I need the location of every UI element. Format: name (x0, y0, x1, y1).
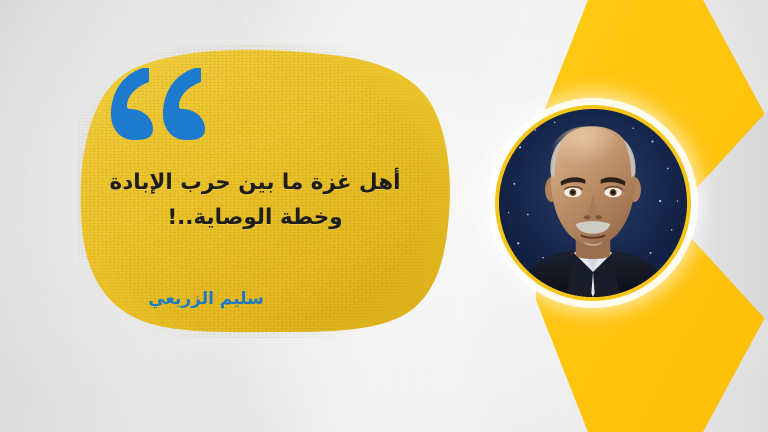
author-name: سليم الزريعي (96, 288, 316, 310)
quote-line-2: وخطة الوصاية..! (96, 201, 414, 236)
author-portrait-avatar (495, 105, 691, 301)
quote-text: أهل غزة ما بين حرب الإبادة وخطة الوصاية.… (96, 166, 414, 236)
quote-line-1: أهل غزة ما بين حرب الإبادة (96, 166, 414, 201)
portrait-image (499, 109, 687, 297)
quote-card: أهل غزة ما بين حرب الإبادة وخطة الوصاية.… (0, 0, 768, 432)
quotation-mark-icon (103, 66, 209, 140)
